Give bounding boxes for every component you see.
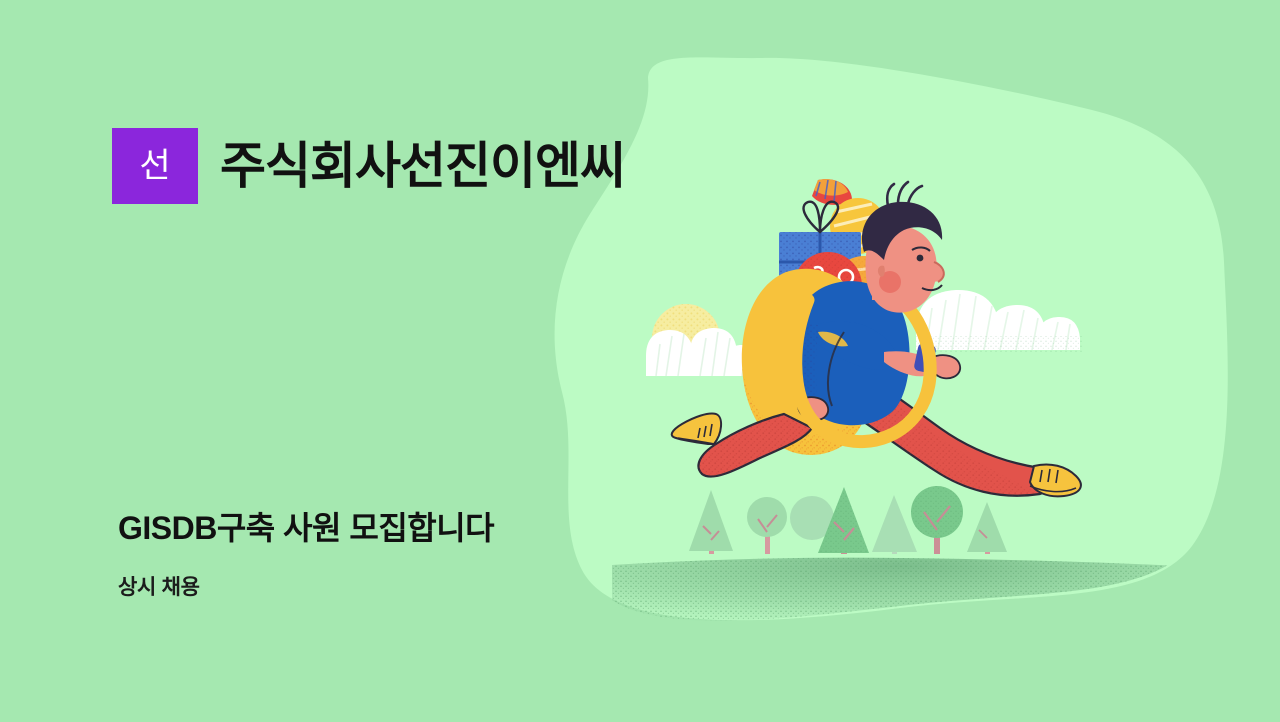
ball-yellow-striped <box>830 198 886 254</box>
sack-yellow <box>742 269 872 455</box>
hand-back <box>798 397 828 420</box>
tree-pine-pale-3 <box>967 502 1007 554</box>
job-posting-title: GISDB구축 사원 모집합니다 <box>118 511 494 546</box>
hair <box>862 202 942 260</box>
cuff <box>913 342 936 373</box>
shoe-front <box>1030 464 1081 496</box>
head <box>862 182 944 313</box>
runner-figure <box>672 182 1081 496</box>
cheek <box>879 271 901 293</box>
company-header: 선 주식회사선진이엔씨 <box>112 128 625 204</box>
company-logo-badge[interactable]: 선 <box>112 128 198 204</box>
tree-row <box>689 486 1007 554</box>
sleeve-highlight <box>818 332 848 347</box>
ground-strip <box>600 550 1200 630</box>
gift-bow <box>804 202 839 232</box>
leg-front <box>824 376 1051 496</box>
tree-pine-pale-1 <box>689 490 733 554</box>
hair-strands <box>887 182 922 206</box>
tree-round-pale-2 <box>790 496 834 540</box>
job-posting-banner: 선 주식회사선진이엔씨 GISDB구축 사원 모집합니다 상시 채용 <box>0 0 1280 722</box>
company-name: 주식회사선진이엔씨 <box>220 141 625 191</box>
ear <box>878 266 885 277</box>
employment-type: 상시 채용 <box>118 576 200 599</box>
shirt <box>795 281 910 425</box>
sun <box>652 304 720 372</box>
ball-red-patterned <box>794 252 862 320</box>
neck <box>872 272 902 300</box>
forearm <box>884 351 933 376</box>
right-hills <box>916 290 1082 352</box>
shoe-back <box>672 414 721 444</box>
ball-orange-striped <box>832 256 896 320</box>
sack-strap <box>796 300 930 442</box>
blob-backdrop <box>555 57 1228 620</box>
background-fill <box>0 0 1280 722</box>
leg-back <box>698 414 812 477</box>
courier-illustration <box>0 0 1280 722</box>
hand-front <box>929 355 960 378</box>
tree-pine-dark-1 <box>818 487 869 554</box>
gift-box-blue <box>779 202 861 302</box>
fan-red-orange <box>812 179 852 205</box>
tree-round-dark-1 <box>911 486 963 554</box>
tree-pine-pale-2 <box>872 495 917 554</box>
left-hills <box>646 328 756 376</box>
company-logo-character: 선 <box>139 149 170 183</box>
tree-round-pale-1 <box>747 497 787 554</box>
eye <box>917 255 924 262</box>
